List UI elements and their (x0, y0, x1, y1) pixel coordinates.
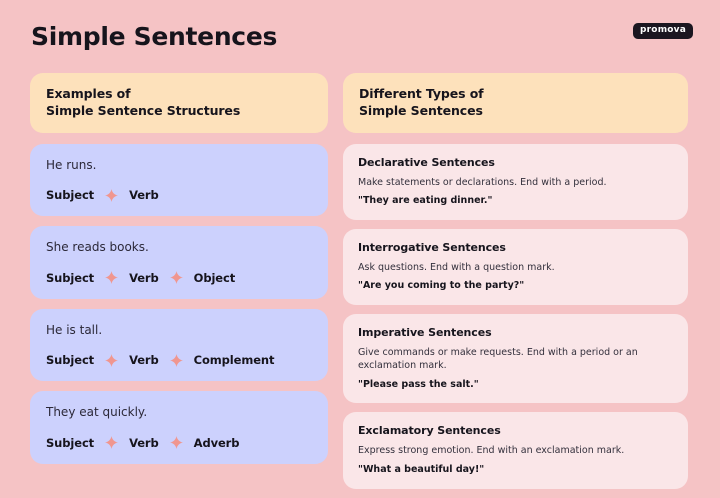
structure-formula: Subject Verb Object (46, 271, 312, 285)
sentence-type-title: Imperative Sentences (358, 326, 673, 339)
sentence-type-description: Give commands or make requests. End with… (358, 346, 673, 374)
right-header-line-2: Simple Sentences (359, 102, 672, 119)
plus-icon (105, 271, 118, 284)
structure-example: She reads books. (46, 240, 312, 256)
right-column-header: Different Types of Simple Sentences (343, 73, 688, 133)
sentence-type-description: Ask questions. End with a question mark. (358, 261, 673, 275)
plus-icon (105, 354, 118, 367)
infographic-poster: Simple Sentences promova Examples of Sim… (0, 0, 720, 480)
brand-logo: promova (633, 23, 693, 39)
structure-part: Verb (129, 188, 159, 202)
sentence-type-title: Declarative Sentences (358, 156, 673, 169)
sentence-type-card: Interrogative Sentences Ask questions. E… (343, 229, 688, 305)
structure-part: Verb (129, 353, 159, 367)
sentence-type-card: Imperative Sentences Give commands or ma… (343, 314, 688, 404)
sentence-type-card: Exclamatory Sentences Express strong emo… (343, 412, 688, 488)
right-header-line-1: Different Types of (359, 85, 672, 102)
structure-formula: Subject Verb Complement (46, 353, 312, 367)
sentence-type-description: Express strong emotion. End with an excl… (358, 444, 673, 458)
plus-icon (170, 436, 183, 449)
structure-part: Subject (46, 271, 94, 285)
plus-icon (170, 271, 183, 284)
structure-example: They eat quickly. (46, 405, 312, 421)
structure-formula: Subject Verb (46, 188, 312, 202)
structure-part: Verb (129, 271, 159, 285)
structure-example: He is tall. (46, 323, 312, 339)
structure-formula: Subject Verb Adverb (46, 436, 312, 450)
structure-part: Subject (46, 188, 94, 202)
structure-part: Adverb (194, 436, 240, 450)
sentence-type-title: Exclamatory Sentences (358, 424, 673, 437)
left-column: Examples of Simple Sentence Structures H… (30, 73, 328, 474)
plus-icon (105, 436, 118, 449)
left-header-line-2: Simple Sentence Structures (46, 102, 312, 119)
structure-example: He runs. (46, 158, 312, 174)
sentence-type-description: Make statements or declarations. End wit… (358, 176, 673, 190)
structure-card: She reads books. Subject Verb Object (30, 226, 328, 299)
plus-icon (170, 354, 183, 367)
sentence-type-example: "Please pass the salt." (358, 378, 673, 391)
structure-part: Subject (46, 353, 94, 367)
left-column-header: Examples of Simple Sentence Structures (30, 73, 328, 133)
left-header-line-1: Examples of (46, 85, 312, 102)
structure-part: Object (194, 271, 235, 285)
sentence-type-card: Declarative Sentences Make statements or… (343, 144, 688, 220)
page-title: Simple Sentences (31, 22, 277, 51)
sentence-type-example: "They are eating dinner." (358, 194, 673, 207)
right-column: Different Types of Simple Sentences Decl… (343, 73, 688, 498)
structure-part: Complement (194, 353, 275, 367)
sentence-type-example: "Are you coming to the party?" (358, 279, 673, 292)
structure-card: He runs. Subject Verb (30, 144, 328, 217)
structure-part: Subject (46, 436, 94, 450)
structure-card: He is tall. Subject Verb Complement (30, 309, 328, 382)
plus-icon (105, 189, 118, 202)
sentence-type-example: "What a beautiful day!" (358, 463, 673, 476)
structure-part: Verb (129, 436, 159, 450)
structure-card: They eat quickly. Subject Verb Adverb (30, 391, 328, 464)
sentence-type-title: Interrogative Sentences (358, 241, 673, 254)
